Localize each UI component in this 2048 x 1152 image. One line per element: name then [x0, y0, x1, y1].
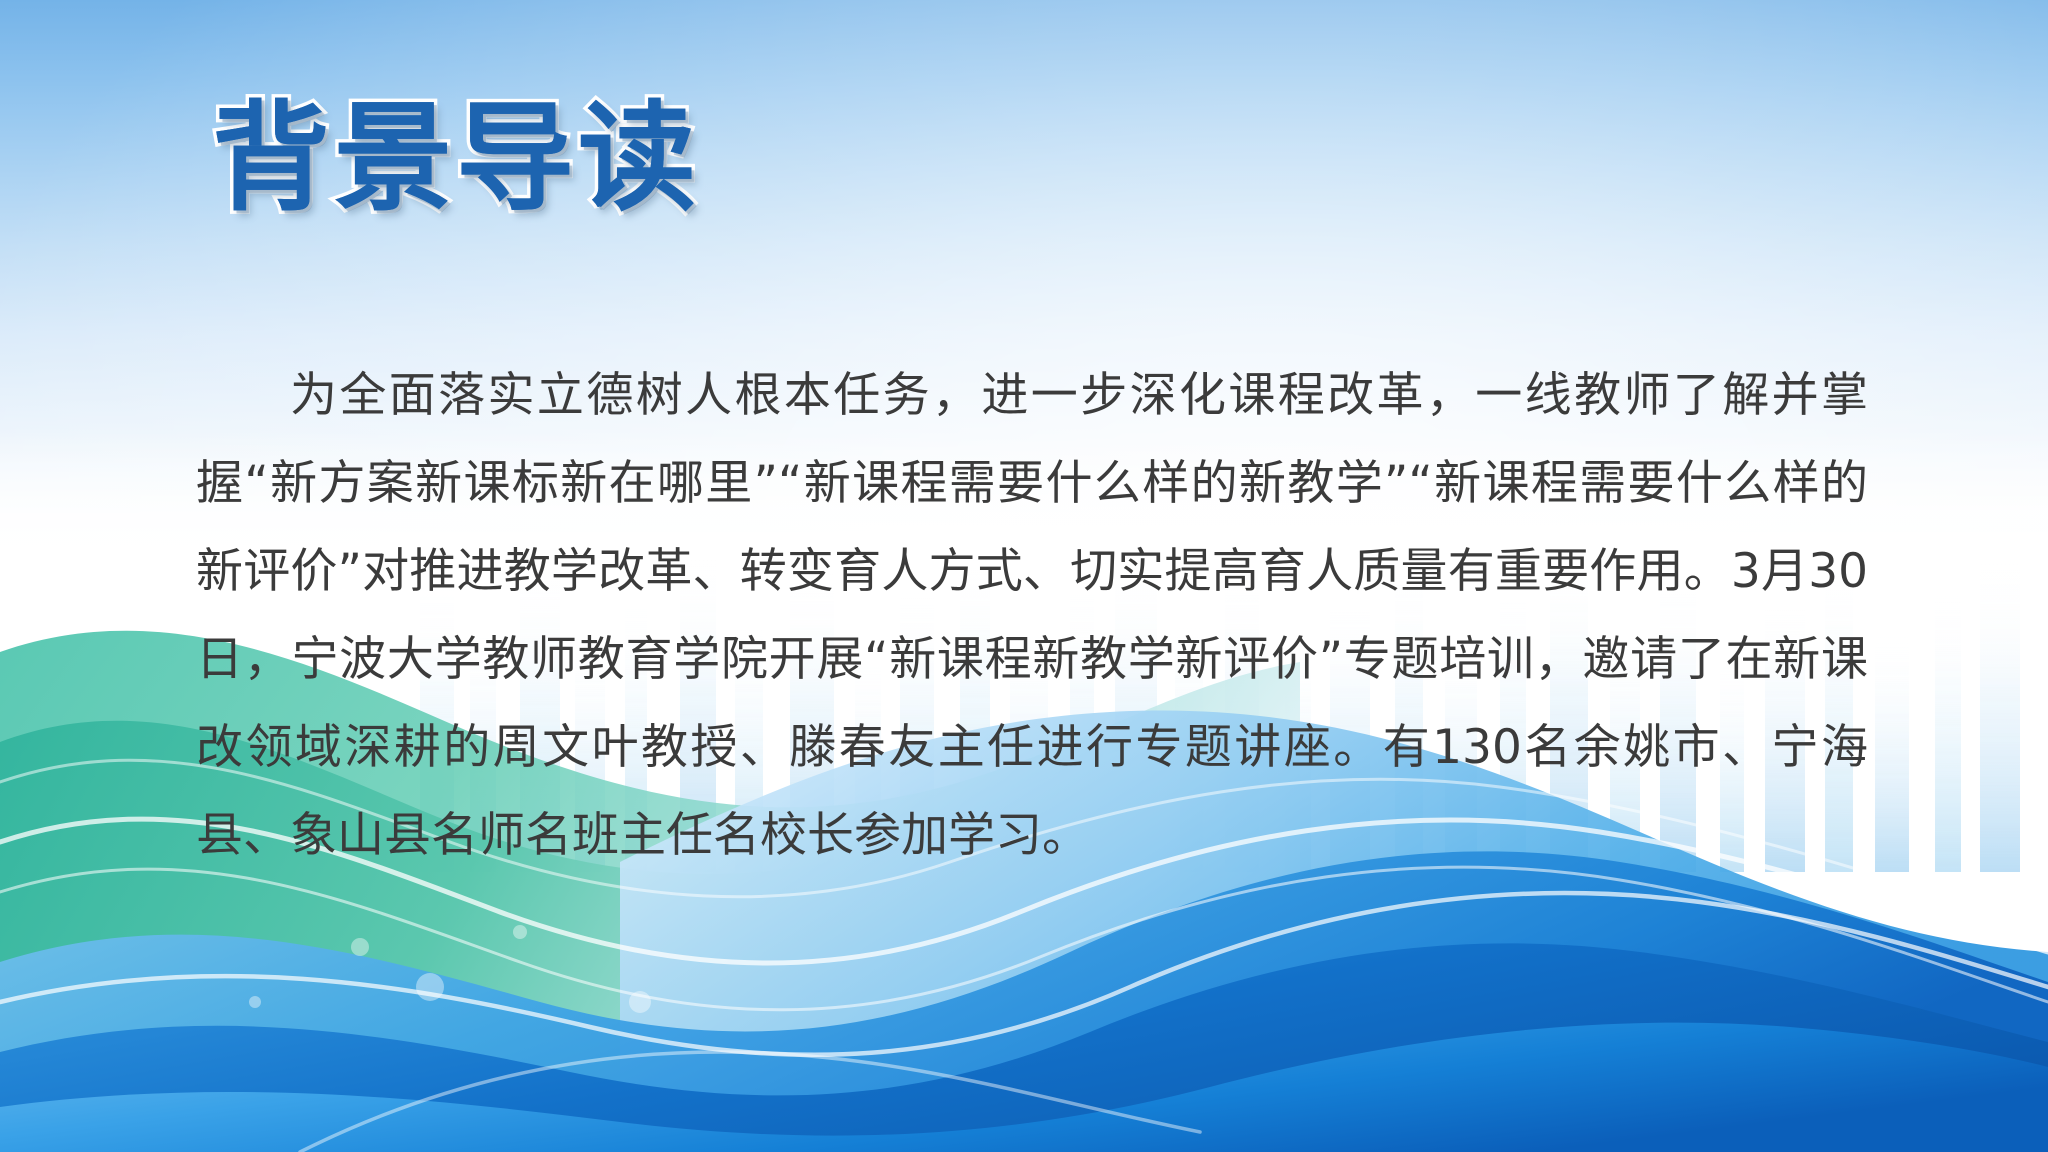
page-title: 背景导读: [212, 96, 700, 221]
body-paragraph: 为全面落实立德树人根本任务，进一步深化课程改革，一线教师了解并掌握“新方案新课标…: [196, 352, 1868, 880]
slide-title-block: 背景导读 背景导读: [212, 96, 700, 221]
presentation-slide: 背景导读 背景导读 为全面落实立德树人根本任务，进一步深化课程改革，一线教师了解…: [0, 0, 2048, 1152]
body-paragraph-text: 为全面落实立德树人根本任务，进一步深化课程改革，一线教师了解并掌握“新方案新课标…: [196, 352, 1868, 880]
